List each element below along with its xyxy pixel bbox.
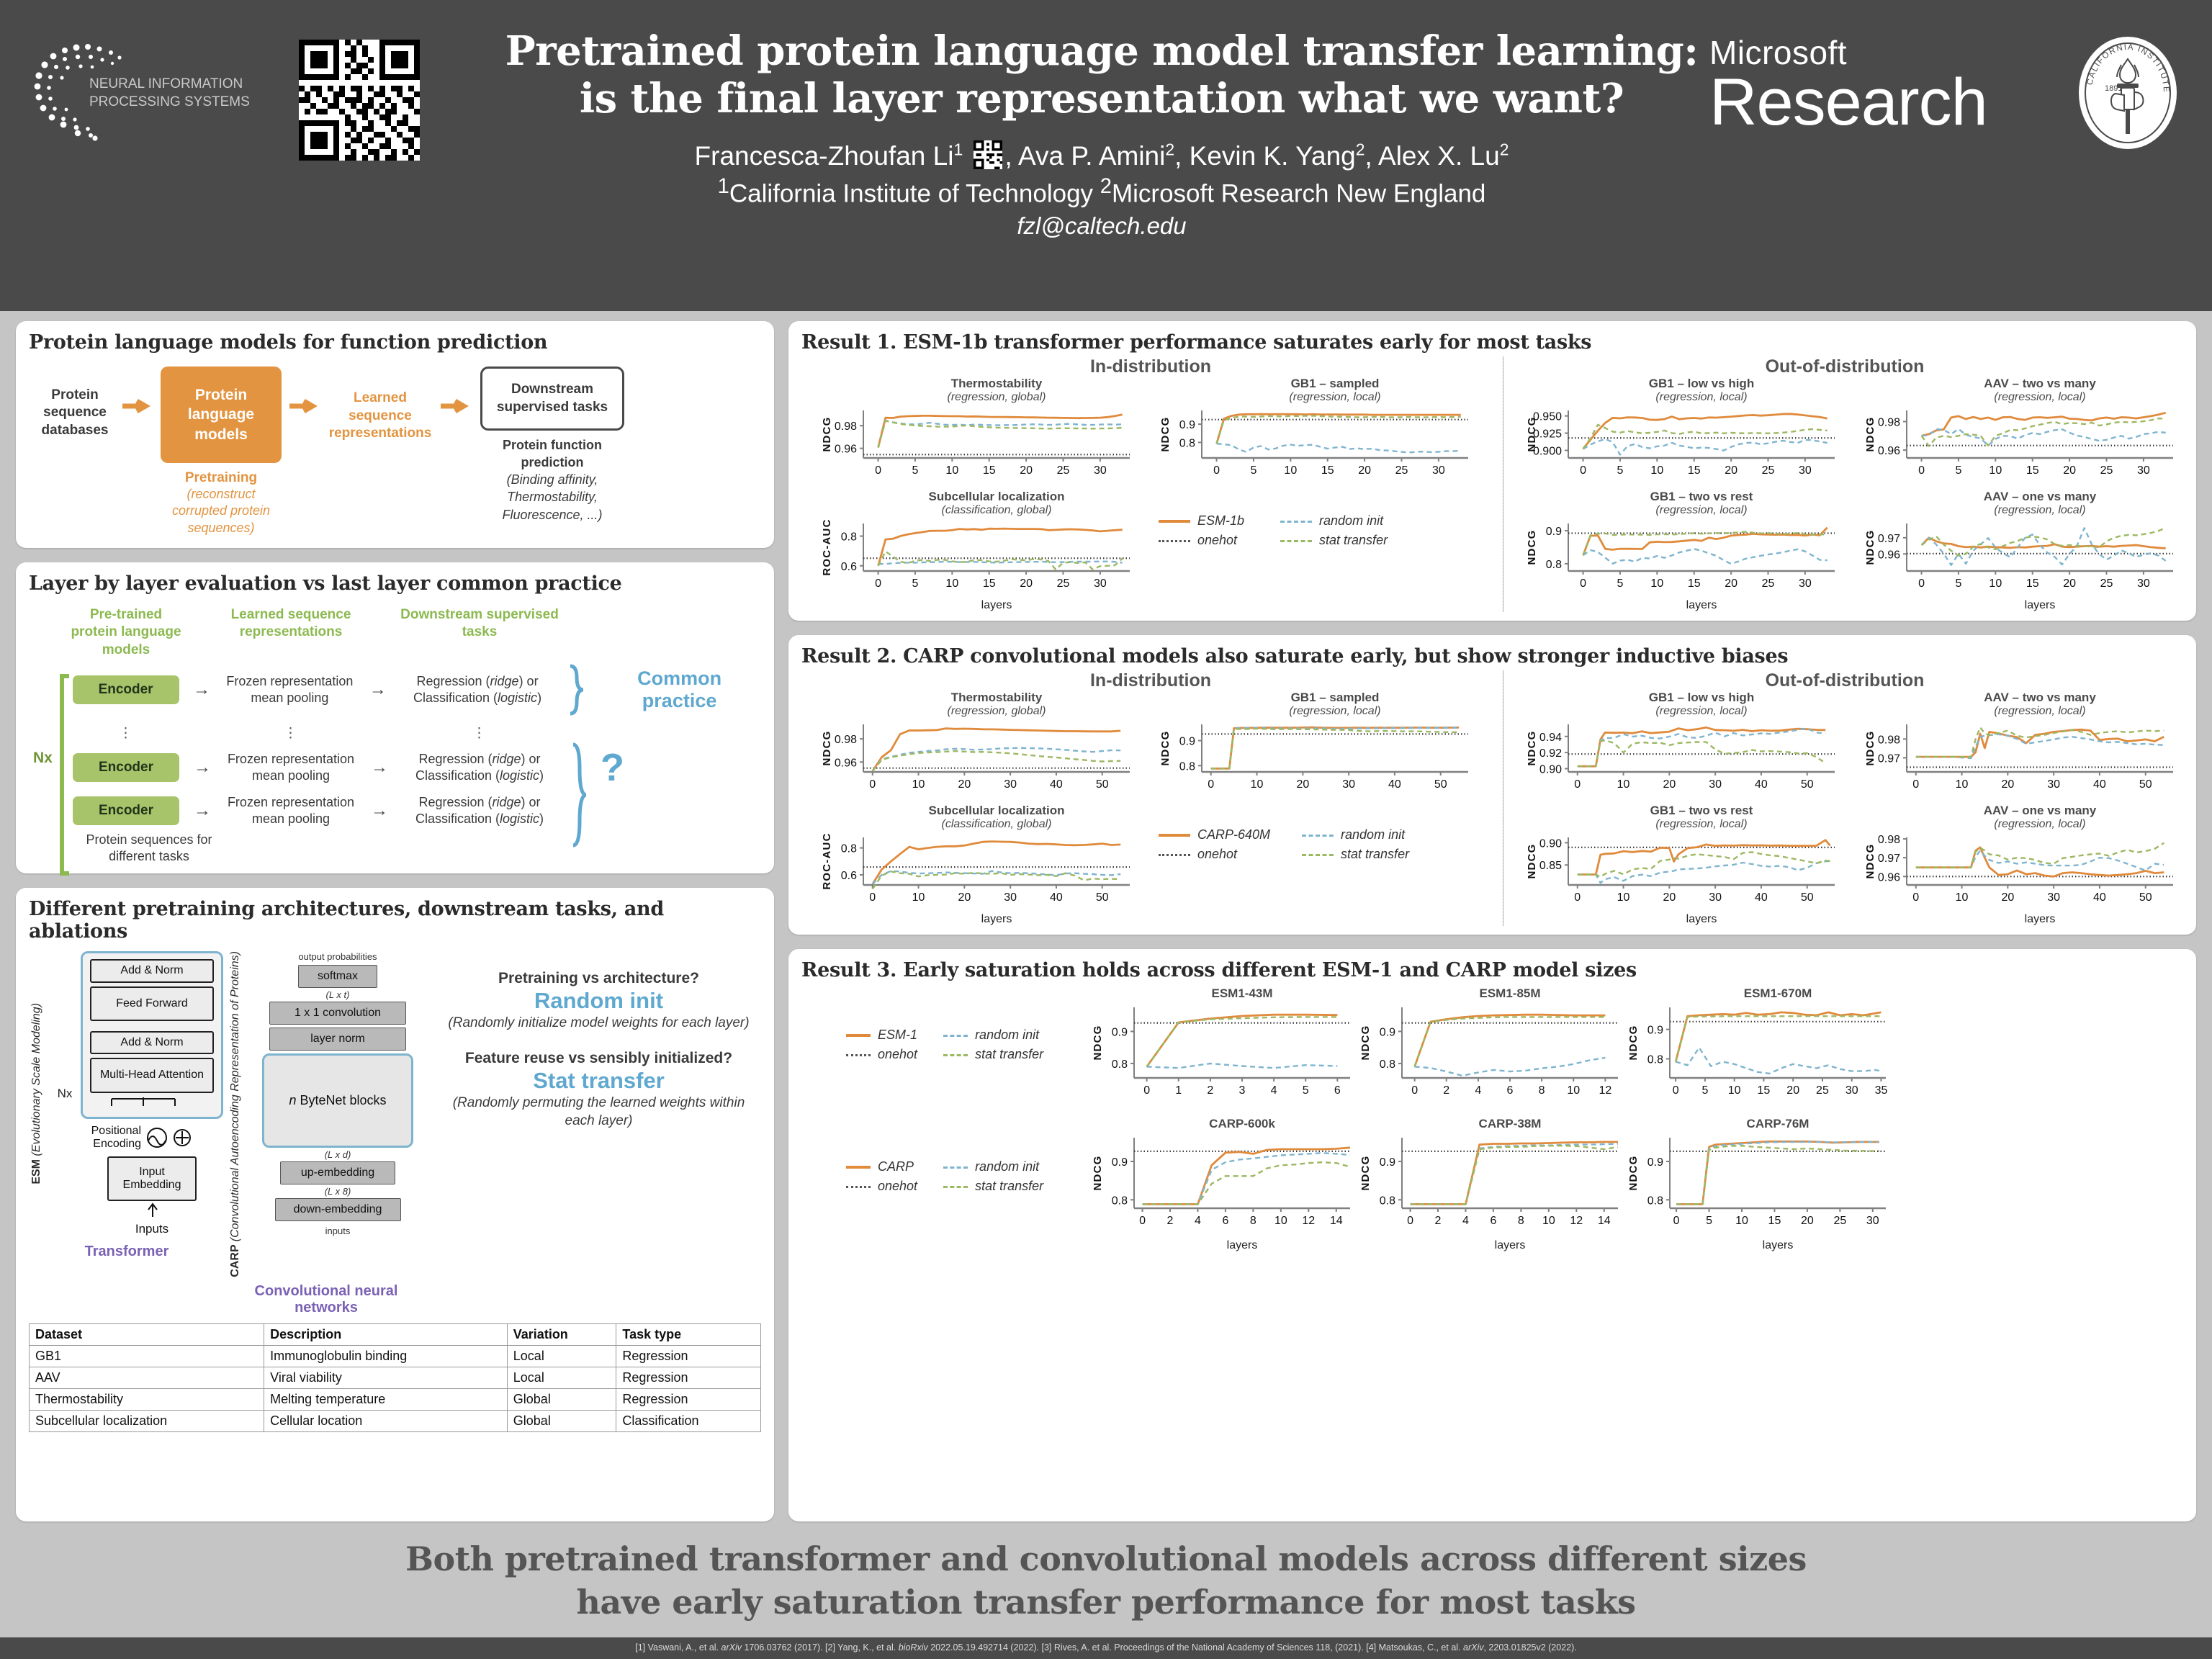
author-3: , Kevin K. Yang [1174, 141, 1356, 171]
svg-text:NDCG: NDCG [1159, 731, 1172, 766]
svg-text:20: 20 [2001, 891, 2014, 904]
svg-text:25: 25 [1395, 464, 1408, 477]
svg-text:4: 4 [1271, 1084, 1277, 1097]
svg-text:0.9: 0.9 [1546, 526, 1562, 538]
chart-r3-carp-38m: CARP-38M0.80.902468101214NDCGlayers [1357, 1116, 1625, 1252]
svg-text:ESM1-85M: ESM1-85M [1479, 986, 1540, 1000]
svg-text:0: 0 [1407, 1215, 1413, 1227]
legend-label-stat-transfer: stat transfer [975, 1046, 1049, 1064]
svg-text:10: 10 [1274, 1215, 1287, 1227]
result1-ood-header: Out-of-distribution [1506, 356, 2183, 377]
svg-text:NDCG: NDCG [1627, 1025, 1640, 1061]
svg-text:25: 25 [1057, 577, 1070, 590]
svg-text:0: 0 [1912, 778, 1919, 791]
task-mid: Regression (ridge) or Classification (lo… [400, 751, 559, 784]
ref-part-2: 1706.03762 (2017). [2] Yang, K., et al. [742, 1642, 899, 1653]
x-axis-label: layers [1845, 913, 2183, 926]
svg-text:CARP-76M: CARP-76M [1747, 1117, 1809, 1130]
panel2-rows: Nx Encoder → Frozen representation mean … [29, 663, 761, 827]
svg-text:GB1 – low vs high: GB1 – low vs high [1649, 377, 1754, 390]
svg-text:15: 15 [1758, 1084, 1771, 1097]
svg-text:30: 30 [1799, 577, 1812, 590]
lxd-label: (L x d) [252, 1149, 423, 1160]
vertical-dots-icon: ⋮ [284, 726, 298, 741]
chart-r2-gb1-low-high: GB1 – low vs high(regression, local)0.90… [1506, 691, 1845, 804]
learned-representations-label: Learned sequence representations [327, 367, 433, 443]
svg-text:15: 15 [983, 577, 996, 590]
caltech-seal-logo: CALIFORNIA INSTITUTE OF TECHNOLOGY 1891 [2068, 33, 2188, 153]
svg-text:40: 40 [2093, 778, 2106, 791]
svg-text:10: 10 [1956, 778, 1969, 791]
author-1: Francesca-Zhoufan Li [695, 141, 954, 171]
down-embedding-block: down-embedding [275, 1198, 401, 1221]
svg-text:0: 0 [1411, 1084, 1418, 1097]
svg-text:1: 1 [1175, 1084, 1182, 1097]
svg-text:0.90: 0.90 [1539, 764, 1562, 776]
input-embedding-block: Input Embedding [107, 1156, 197, 1202]
svg-text:3: 3 [1239, 1084, 1246, 1097]
takeaway-banner: Both pretrained transformer and convolut… [0, 1527, 2212, 1637]
feed-forward-block: Feed Forward [90, 986, 214, 1021]
ref-part-1: arXiv [721, 1642, 742, 1653]
svg-text:NDCG: NDCG [1526, 530, 1538, 565]
svg-text:20: 20 [1786, 1084, 1799, 1097]
svg-text:0.8: 0.8 [1380, 1058, 1395, 1071]
result1-title: Result 1. ESM-1b transformer performance… [801, 331, 2183, 354]
svg-text:30: 30 [1004, 778, 1017, 791]
x-axis-label: layers [1845, 599, 2183, 612]
svg-text:Subcellular localization: Subcellular localization [929, 490, 1065, 503]
chart-r2-aav-one-many: AAV – one vs many(regression, local)0.96… [1845, 804, 2183, 926]
svg-text:10: 10 [1284, 464, 1297, 477]
svg-text:0.98: 0.98 [1878, 834, 1900, 846]
result1-in-dist-header: In-distribution [801, 356, 1500, 377]
svg-text:20: 20 [1020, 577, 1033, 590]
svg-text:50: 50 [1096, 891, 1109, 904]
svg-text:0.98: 0.98 [1878, 734, 1900, 746]
legend-swatch-onehot [846, 1177, 876, 1195]
table-row: Subcellular localizationCellular locatio… [30, 1410, 761, 1431]
question-2: Feature reuse vs sensibly initialized? [442, 1050, 755, 1067]
svg-text:GB1 – sampled: GB1 – sampled [1291, 691, 1380, 704]
result2-in-dist-header: In-distribution [801, 670, 1500, 691]
svg-text:0: 0 [1574, 891, 1581, 904]
output-probabilities-label: output probabilities [252, 951, 423, 962]
svg-text:5: 5 [1706, 1215, 1712, 1227]
encoder-box-mid: Encoder [73, 753, 179, 782]
author-2: , Ava P. Amini [1005, 141, 1166, 171]
svg-text:0.8: 0.8 [1179, 437, 1195, 449]
svg-text:5: 5 [1955, 577, 1961, 590]
answer-1: Random init [442, 989, 755, 1013]
svg-text:(regression, local): (regression, local) [1289, 391, 1380, 403]
common-practice-brace-icon [560, 663, 593, 716]
svg-text:AAV – one vs many: AAV – one vs many [1984, 490, 2097, 503]
svg-text:6: 6 [1507, 1084, 1514, 1097]
svg-text:0: 0 [875, 464, 881, 477]
svg-text:12: 12 [1570, 1215, 1583, 1227]
frozen-rep-top: Frozen representation mean pooling [222, 673, 357, 706]
svg-text:NDCG: NDCG [1864, 844, 1876, 879]
result2-legend: CARP-640M random init onehot stat trans [1140, 804, 1416, 926]
svg-text:2: 2 [1443, 1084, 1449, 1097]
legend-swatch-stat-transfer [1251, 531, 1318, 549]
x-axis-label: layers [1506, 913, 1845, 926]
svg-text:25: 25 [1833, 1215, 1846, 1227]
svg-text:Thermostability: Thermostability [951, 377, 1043, 390]
vertical-dots-icon: ⋮ [119, 725, 133, 742]
question-mark-label: ? [601, 745, 624, 790]
chart-r1-gb1-two-rest: GB1 – two vs rest(regression, local)0.80… [1506, 490, 1845, 612]
svg-text:0: 0 [1574, 778, 1581, 791]
carp-inputs-label: inputs [252, 1226, 423, 1236]
chart-r2-gb1-two-rest: GB1 – two vs rest(regression, local)0.85… [1506, 804, 1845, 926]
poster-title-line2: is the final layer representation what w… [475, 75, 1728, 122]
svg-text:0.9: 0.9 [1647, 1025, 1663, 1037]
panel-result-1: Result 1. ESM-1b transformer performance… [788, 321, 2196, 621]
svg-text:AAV – two vs many: AAV – two vs many [1984, 377, 2096, 390]
svg-text:0: 0 [1918, 577, 1925, 590]
panel-result-2: Result 2. CARP convolutional models also… [788, 635, 2196, 935]
result1-legend: ESM-1b random init onehot stat transfer [1140, 490, 1395, 612]
header-qr-code[interactable] [299, 40, 420, 161]
positional-encoding-label: Positional Encoding [81, 1125, 141, 1151]
svg-text:10: 10 [912, 891, 925, 904]
svg-text:GB1 – two vs rest: GB1 – two vs rest [1650, 490, 1753, 503]
svg-text:(classification, global): (classification, global) [942, 504, 1052, 516]
cell-variation: Local [507, 1367, 616, 1388]
svg-text:(regression, local): (regression, local) [1994, 504, 2085, 516]
svg-text:10: 10 [1542, 1215, 1555, 1227]
transformer-label: Transformer [30, 1244, 223, 1260]
cell-tasktype: Regression [616, 1367, 761, 1388]
author-qr-code[interactable] [974, 140, 1002, 169]
svg-text:0.92: 0.92 [1539, 747, 1562, 760]
svg-text:10: 10 [1989, 464, 2002, 477]
svg-text:GB1 – sampled: GB1 – sampled [1291, 377, 1380, 390]
research-wordmark: Research [1709, 69, 2048, 137]
legend-swatch-carp640m [1159, 826, 1196, 844]
question-1: Pretraining vs architecture? [442, 970, 755, 987]
x-axis-label: layers [1357, 1239, 1625, 1252]
ref-part-5: arXiv [1463, 1642, 1483, 1653]
panel2-nx-label: Nx [33, 750, 53, 767]
svg-text:20: 20 [1725, 577, 1737, 590]
svg-text:30: 30 [1004, 891, 1017, 904]
svg-text:25: 25 [2100, 577, 2113, 590]
svg-text:5: 5 [1701, 1084, 1708, 1097]
svg-text:25: 25 [1816, 1084, 1829, 1097]
legend-label-stat-transfer: stat transfer [1341, 845, 1415, 863]
svg-text:2: 2 [1435, 1215, 1442, 1227]
row-arrow-icon: → [186, 759, 219, 776]
svg-text:4: 4 [1462, 1215, 1469, 1227]
x-axis-label: layers [801, 599, 1140, 612]
cell-tasktype: Classification [616, 1410, 761, 1431]
svg-text:6: 6 [1334, 1084, 1341, 1097]
transformer-inputs-label: Inputs [81, 1222, 223, 1236]
svg-text:0: 0 [1912, 891, 1919, 904]
chart-r1-aav-one-many: AAV – one vs many(regression, local)0.96… [1845, 490, 2183, 612]
legend-swatch-random-init [1251, 512, 1318, 530]
svg-text:40: 40 [1050, 778, 1063, 791]
svg-text:10: 10 [1956, 891, 1969, 904]
svg-text:40: 40 [1050, 891, 1063, 904]
cell-description: Immunoglobulin binding [264, 1345, 508, 1367]
svg-text:8: 8 [1539, 1084, 1545, 1097]
panel-result-3: Result 3. Early saturation holds across … [788, 949, 2196, 1521]
svg-text:0: 0 [1580, 464, 1586, 477]
svg-text:Subcellular localization: Subcellular localization [929, 804, 1065, 817]
svg-text:5: 5 [912, 577, 918, 590]
svg-text:10: 10 [1567, 1084, 1580, 1097]
takeaway-line1: Both pretrained transformer and convolut… [0, 1537, 2212, 1581]
svg-text:0.90: 0.90 [1539, 837, 1562, 850]
svg-text:25: 25 [2100, 464, 2113, 477]
plm-column: Protein language models Pretraining (rec… [160, 367, 282, 536]
svg-text:20: 20 [1020, 464, 1033, 477]
nx-bracket-icon [58, 670, 71, 879]
chart-r1-aav-two-many: AAV – two vs many(regression, local)0.96… [1845, 377, 2183, 490]
panel1-title: Protein language models for function pre… [29, 331, 761, 354]
legend-label-stat-transfer: stat transfer [975, 1177, 1049, 1195]
legend-swatch-stat-transfer [1277, 845, 1339, 863]
svg-text:30: 30 [1799, 464, 1812, 477]
svg-text:50: 50 [1801, 891, 1814, 904]
panel-layer-by-layer: Layer by layer evaluation vs last layer … [16, 562, 774, 873]
task-bottom: Regression (ridge) or Classification (lo… [400, 794, 559, 827]
svg-text:50: 50 [1434, 778, 1447, 791]
cell-description: Viral viability [264, 1367, 508, 1388]
table-row: GB1Immunoglobulin bindingLocalRegression [30, 1345, 761, 1367]
table-row: AAVViral viabilityLocalRegression [30, 1367, 761, 1388]
author-4: , Alex X. Lu [1365, 141, 1500, 171]
author-line: Francesca-Zhoufan Li1 [475, 140, 1728, 172]
chart-r3-carp-600k: CARP-600k0.80.902468101214NDCGlayers [1089, 1116, 1357, 1252]
legend-label-esm1b: ESM-1b [1197, 512, 1250, 530]
svg-text:50: 50 [1096, 778, 1109, 791]
affiliation-line: 1California Institute of Technology 2Mic… [475, 174, 1728, 210]
svg-text:0.98: 0.98 [835, 734, 857, 746]
plm-flow-diagram: Protein sequence databases Protein langu… [29, 356, 761, 539]
transformer-block: Add & Norm Feed Forward Add & Norm Multi… [81, 951, 223, 1119]
chart-r1-gb1-sampled: GB1 – sampled(regression, local)0.80.905… [1140, 377, 1478, 490]
table-header-row: Dataset Description Variation Task type [30, 1323, 761, 1345]
svg-text:NDCG: NDCG [1092, 1156, 1104, 1191]
svg-text:0: 0 [1673, 1215, 1680, 1227]
ref-part-0: [1] Vaswani, A., et al. [635, 1642, 721, 1653]
svg-text:0.96: 0.96 [835, 444, 857, 456]
table-row: ThermostabilityMelting temperatureGlobal… [30, 1388, 761, 1410]
result2-ood-header: Out-of-distribution [1506, 670, 2183, 691]
add-norm-block-top: Add & Norm [90, 959, 214, 982]
svg-text:20: 20 [2063, 464, 2076, 477]
cell-variation: Local [507, 1345, 616, 1367]
svg-text:15: 15 [2026, 464, 2039, 477]
svg-text:NDCG: NDCG [821, 731, 833, 766]
svg-text:NDCG: NDCG [1526, 844, 1538, 879]
svg-text:50: 50 [2139, 778, 2152, 791]
svg-text:50: 50 [1801, 778, 1814, 791]
svg-text:0.8: 0.8 [1647, 1195, 1663, 1207]
svg-text:20: 20 [1663, 778, 1676, 791]
x-axis-label: layers [1625, 1239, 1893, 1252]
svg-text:20: 20 [958, 778, 971, 791]
svg-text:(regression, local): (regression, local) [1289, 705, 1380, 717]
panel2-row-bottom: Encoder → Frozen representation mean poo… [71, 794, 761, 827]
svg-text:30: 30 [2137, 577, 2150, 590]
result2-title: Result 2. CARP convolutional models also… [801, 645, 2183, 667]
chart-r3-esm1-670m: ESM1-670M0.80.905101520253035NDCG [1625, 986, 1893, 1113]
svg-text:0: 0 [1673, 1084, 1679, 1097]
svg-text:(regression, local): (regression, local) [1994, 705, 2085, 717]
legend-swatch-stat-transfer [925, 1177, 974, 1195]
svg-text:40: 40 [1755, 778, 1768, 791]
title-block: Pretrained protein language model transf… [475, 27, 1728, 240]
svg-text:0.98: 0.98 [1878, 416, 1900, 428]
svg-text:0: 0 [875, 577, 881, 590]
x-axis-label: layers [1506, 599, 1845, 612]
legend-label-random-init: random init [1341, 826, 1415, 844]
flow-source-label: Protein sequence databases [35, 367, 115, 439]
legend-label-random-init: random init [975, 1026, 1049, 1044]
carp-diagram: CARP (Convolutional Autoencoding Represe… [229, 951, 423, 1316]
svg-text:2: 2 [1207, 1084, 1213, 1097]
chart-r1-thermostability: Thermostability(regression, global)0.960… [801, 377, 1140, 490]
cell-variation: Global [507, 1410, 616, 1431]
downstream-caption: Protein function prediction [478, 437, 626, 471]
svg-text:30: 30 [1342, 778, 1355, 791]
answer-1-note: (Randomly initialize model weights for e… [442, 1015, 755, 1033]
svg-text:0: 0 [1208, 778, 1214, 791]
legend-label-onehot: onehot [878, 1046, 923, 1064]
left-column: Protein language models for function pre… [16, 321, 774, 1521]
legend-label-esm1: ESM-1 [878, 1026, 923, 1044]
svg-text:30: 30 [1094, 464, 1107, 477]
downstream-note: (Binding affinity, Thermostability, Fluo… [478, 471, 626, 523]
panel2-col1-header: Pre-trained protein language models [71, 606, 181, 659]
row-arrow-icon: → [185, 681, 218, 698]
svg-text:AAV – one vs many: AAV – one vs many [1984, 804, 2097, 817]
pretraining-note: (reconstruct corrupted protein sequences… [160, 486, 282, 536]
frozen-rep-bottom: Frozen representation mean pooling [223, 794, 359, 827]
svg-text:NDCG: NDCG [821, 417, 833, 452]
chart-r1-gb1-low-high: GB1 – low vs high(regression, local)0.90… [1506, 377, 1845, 490]
svg-text:10: 10 [1251, 778, 1264, 791]
svg-text:0: 0 [1580, 577, 1586, 590]
svg-text:(regression, local): (regression, local) [1994, 391, 2085, 403]
svg-text:GB1 – low vs high: GB1 – low vs high [1649, 691, 1754, 704]
cell-dataset: GB1 [30, 1345, 264, 1367]
svg-text:6: 6 [1222, 1215, 1228, 1227]
svg-text:NDCG: NDCG [1359, 1156, 1372, 1191]
row-arrow-icon: → [363, 802, 396, 819]
svg-text:20: 20 [1725, 464, 1737, 477]
svg-text:8: 8 [1518, 1215, 1524, 1227]
multi-head-attention-block: Multi-Head Attention [90, 1058, 214, 1092]
flow-arrow-1-icon [120, 367, 156, 414]
svg-text:NDCG: NDCG [1864, 417, 1876, 452]
encoder-box-bottom: Encoder [73, 796, 179, 825]
poster-header: NEURAL INFORMATION PROCESSING SYSTEMS [0, 0, 2212, 311]
svg-text:14: 14 [1330, 1215, 1343, 1227]
svg-text:NDCG: NDCG [1092, 1025, 1104, 1061]
svg-text:0.85: 0.85 [1539, 860, 1562, 872]
svg-text:0: 0 [1143, 1084, 1150, 1097]
svg-text:30: 30 [1866, 1215, 1879, 1227]
svg-text:40: 40 [1388, 778, 1401, 791]
svg-text:(regression, global): (regression, global) [948, 705, 1046, 717]
sine-wave-icon [145, 1127, 169, 1148]
cell-tasktype: Regression [616, 1345, 761, 1367]
legend-swatch-random-init [1277, 826, 1339, 844]
svg-text:0.96: 0.96 [1878, 445, 1900, 457]
contact-email[interactable]: fzl@caltech.edu [475, 212, 1728, 240]
panel2-row-mid: Encoder → Frozen representation mean poo… [71, 745, 761, 790]
poster-content: Protein language models for function pre… [0, 311, 2212, 1527]
svg-text:NDCG: NDCG [1864, 731, 1876, 766]
dataset-table: Dataset Description Variation Task type … [29, 1323, 761, 1432]
svg-text:4: 4 [1475, 1084, 1481, 1097]
svg-text:0.8: 0.8 [841, 843, 857, 855]
frozen-rep-mid: Frozen representation mean pooling [223, 751, 359, 784]
panel2-col2-header: Learned sequence representations [223, 606, 359, 659]
svg-text:0: 0 [1918, 464, 1925, 477]
legend-label-stat-transfer: stat transfer [1319, 531, 1393, 549]
legend-swatch-random-init [925, 1026, 974, 1044]
svg-text:NDCG: NDCG [1864, 530, 1876, 565]
svg-text:10: 10 [945, 577, 958, 590]
plus-circle-icon [173, 1128, 192, 1147]
row-arrow-icon: → [361, 681, 395, 698]
svg-text:(classification, global): (classification, global) [942, 818, 1052, 830]
svg-text:20: 20 [1358, 464, 1371, 477]
svg-text:25: 25 [1057, 464, 1070, 477]
svg-text:5: 5 [912, 464, 918, 477]
svg-text:0.8: 0.8 [1112, 1058, 1128, 1071]
panel2-input-note: Protein sequences for different tasks [66, 832, 232, 865]
svg-text:20: 20 [958, 891, 971, 904]
svg-text:0.94: 0.94 [1539, 732, 1562, 744]
carp-vertical-label: CARP (Convolutional Autoencoding Represe… [229, 951, 242, 1277]
result3-legend-carp: CARP random init onehot stat transfer [801, 1116, 1089, 1252]
chart-r2-aav-two-many: AAV – two vs many(regression, local)0.97… [1845, 691, 2183, 804]
svg-text:5: 5 [1955, 464, 1961, 477]
svg-text:NDCG: NDCG [1526, 731, 1538, 766]
svg-text:0: 0 [869, 891, 876, 904]
downstream-column: Downstream supervised tasks Protein func… [478, 367, 626, 523]
chart-r1-subcellular: Subcellular localization(classification,… [801, 490, 1140, 612]
panel2-column-headers: Pre-trained protein language models Lear… [29, 598, 761, 663]
layer-norm-block: layer norm [269, 1028, 406, 1051]
legend-label-carp: CARP [878, 1158, 923, 1176]
svg-text:10: 10 [1650, 464, 1663, 477]
svg-text:35: 35 [1875, 1084, 1888, 1097]
cell-dataset: Subcellular localization [30, 1410, 264, 1431]
chart-r3-esm1-85m: ESM1-85M0.80.9024681012NDCG [1357, 986, 1625, 1113]
neurips-logo: NEURAL INFORMATION PROCESSING SYSTEMS [20, 37, 265, 145]
right-column: Result 1. ESM-1b transformer performance… [788, 321, 2196, 1521]
legend-swatch-random-init [925, 1158, 974, 1176]
panel2-title: Layer by layer evaluation vs last layer … [29, 572, 761, 595]
svg-text:10: 10 [945, 464, 958, 477]
svg-text:0.9: 0.9 [1380, 1156, 1395, 1169]
encoder-box-top: Encoder [73, 675, 179, 704]
chart-r3-esm1-43m: ESM1-43M0.80.90123456NDCG [1089, 986, 1357, 1113]
input-arrow-icon [81, 1201, 223, 1218]
attention-fanout-icon [90, 1093, 214, 1107]
svg-text:10: 10 [1650, 577, 1663, 590]
